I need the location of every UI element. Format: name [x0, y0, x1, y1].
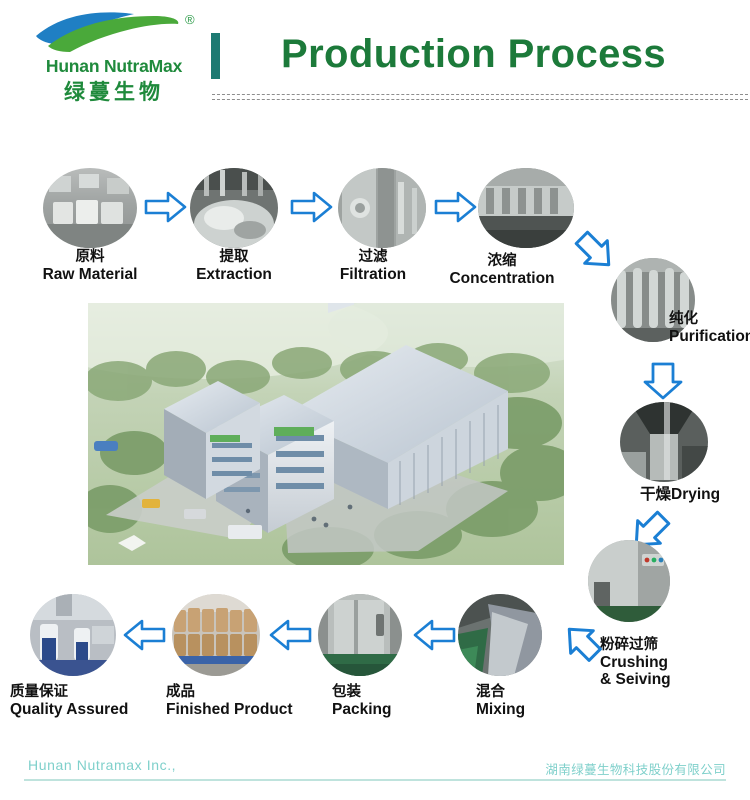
label-concentration: 浓缩 Concentration — [449, 253, 554, 288]
raw-material-photo — [43, 168, 137, 248]
arrow-purification-to-drying — [643, 358, 683, 406]
label-extraction: 提取 Extraction — [196, 249, 272, 284]
label-finished-product: 成品 Finished Product — [166, 684, 293, 719]
arrow-crushing-to-mixing — [558, 618, 606, 666]
footer-company-chinese: 湖南绿蔓生物科技股份有限公司 — [545, 759, 726, 778]
arrow-filtration-to-concentration — [434, 190, 478, 224]
process-step-crushing — [588, 540, 670, 622]
process-step-raw-material — [43, 168, 137, 248]
arrow-raw-to-extraction — [144, 190, 188, 224]
arrow-mixing-to-packing — [412, 618, 456, 652]
title-divider-lower — [212, 99, 748, 100]
label-mixing: 混合 Mixing — [476, 684, 525, 719]
label-raw-material: 原料 Raw Material — [43, 249, 138, 284]
process-step-filtration — [338, 168, 426, 248]
page-title: Production Process — [281, 32, 666, 77]
packing-photo — [318, 594, 402, 676]
filtration-photo — [338, 168, 426, 248]
label-drying: 干燥Drying — [640, 486, 720, 504]
company-logo: ® Hunan NutraMax 绿蔓生物 — [22, 8, 202, 100]
label-crushing-seiving: 粉碎过筛 Crushing & Seiving — [600, 637, 671, 689]
finished-product-photo — [172, 594, 260, 676]
crushing-photo — [588, 540, 670, 622]
process-step-packing — [318, 594, 402, 676]
process-step-finished-product — [172, 594, 260, 676]
footer-divider — [24, 779, 726, 781]
registered-trademark-icon: ® — [185, 12, 195, 27]
mixing-photo — [458, 594, 542, 676]
process-step-drying — [620, 402, 708, 482]
title-divider-upper — [212, 94, 748, 95]
process-step-concentration — [478, 168, 574, 248]
extraction-photo — [190, 168, 278, 248]
factory-building-photo — [88, 303, 564, 565]
quality-assured-photo — [30, 594, 116, 676]
title-accent-bar — [211, 33, 220, 79]
drying-photo — [620, 402, 708, 482]
arrow-finished-product-to-quality-assured — [122, 618, 166, 652]
logo-english-name: Hunan NutraMax — [26, 56, 202, 77]
label-quality-assured: 质量保证 Quality Assured — [10, 684, 128, 719]
label-filtration: 过滤 Filtration — [340, 249, 406, 284]
logo-chinese-name: 绿蔓生物 — [26, 76, 202, 106]
process-step-extraction — [190, 168, 278, 248]
concentration-photo — [478, 168, 574, 248]
process-step-mixing — [458, 594, 542, 676]
production-process-slide: ® Hunan NutraMax 绿蔓生物 Production Process — [0, 0, 750, 800]
process-step-quality-assured — [30, 594, 116, 676]
arrow-extraction-to-filtration — [290, 190, 334, 224]
arrow-packing-to-finished-product — [268, 618, 312, 652]
footer-company-english: Hunan Nutramax Inc., — [28, 757, 176, 773]
logo-swoosh-icon — [30, 10, 180, 56]
label-purification: 纯化 Purification — [669, 311, 750, 346]
label-packing: 包装 Packing — [332, 684, 391, 719]
